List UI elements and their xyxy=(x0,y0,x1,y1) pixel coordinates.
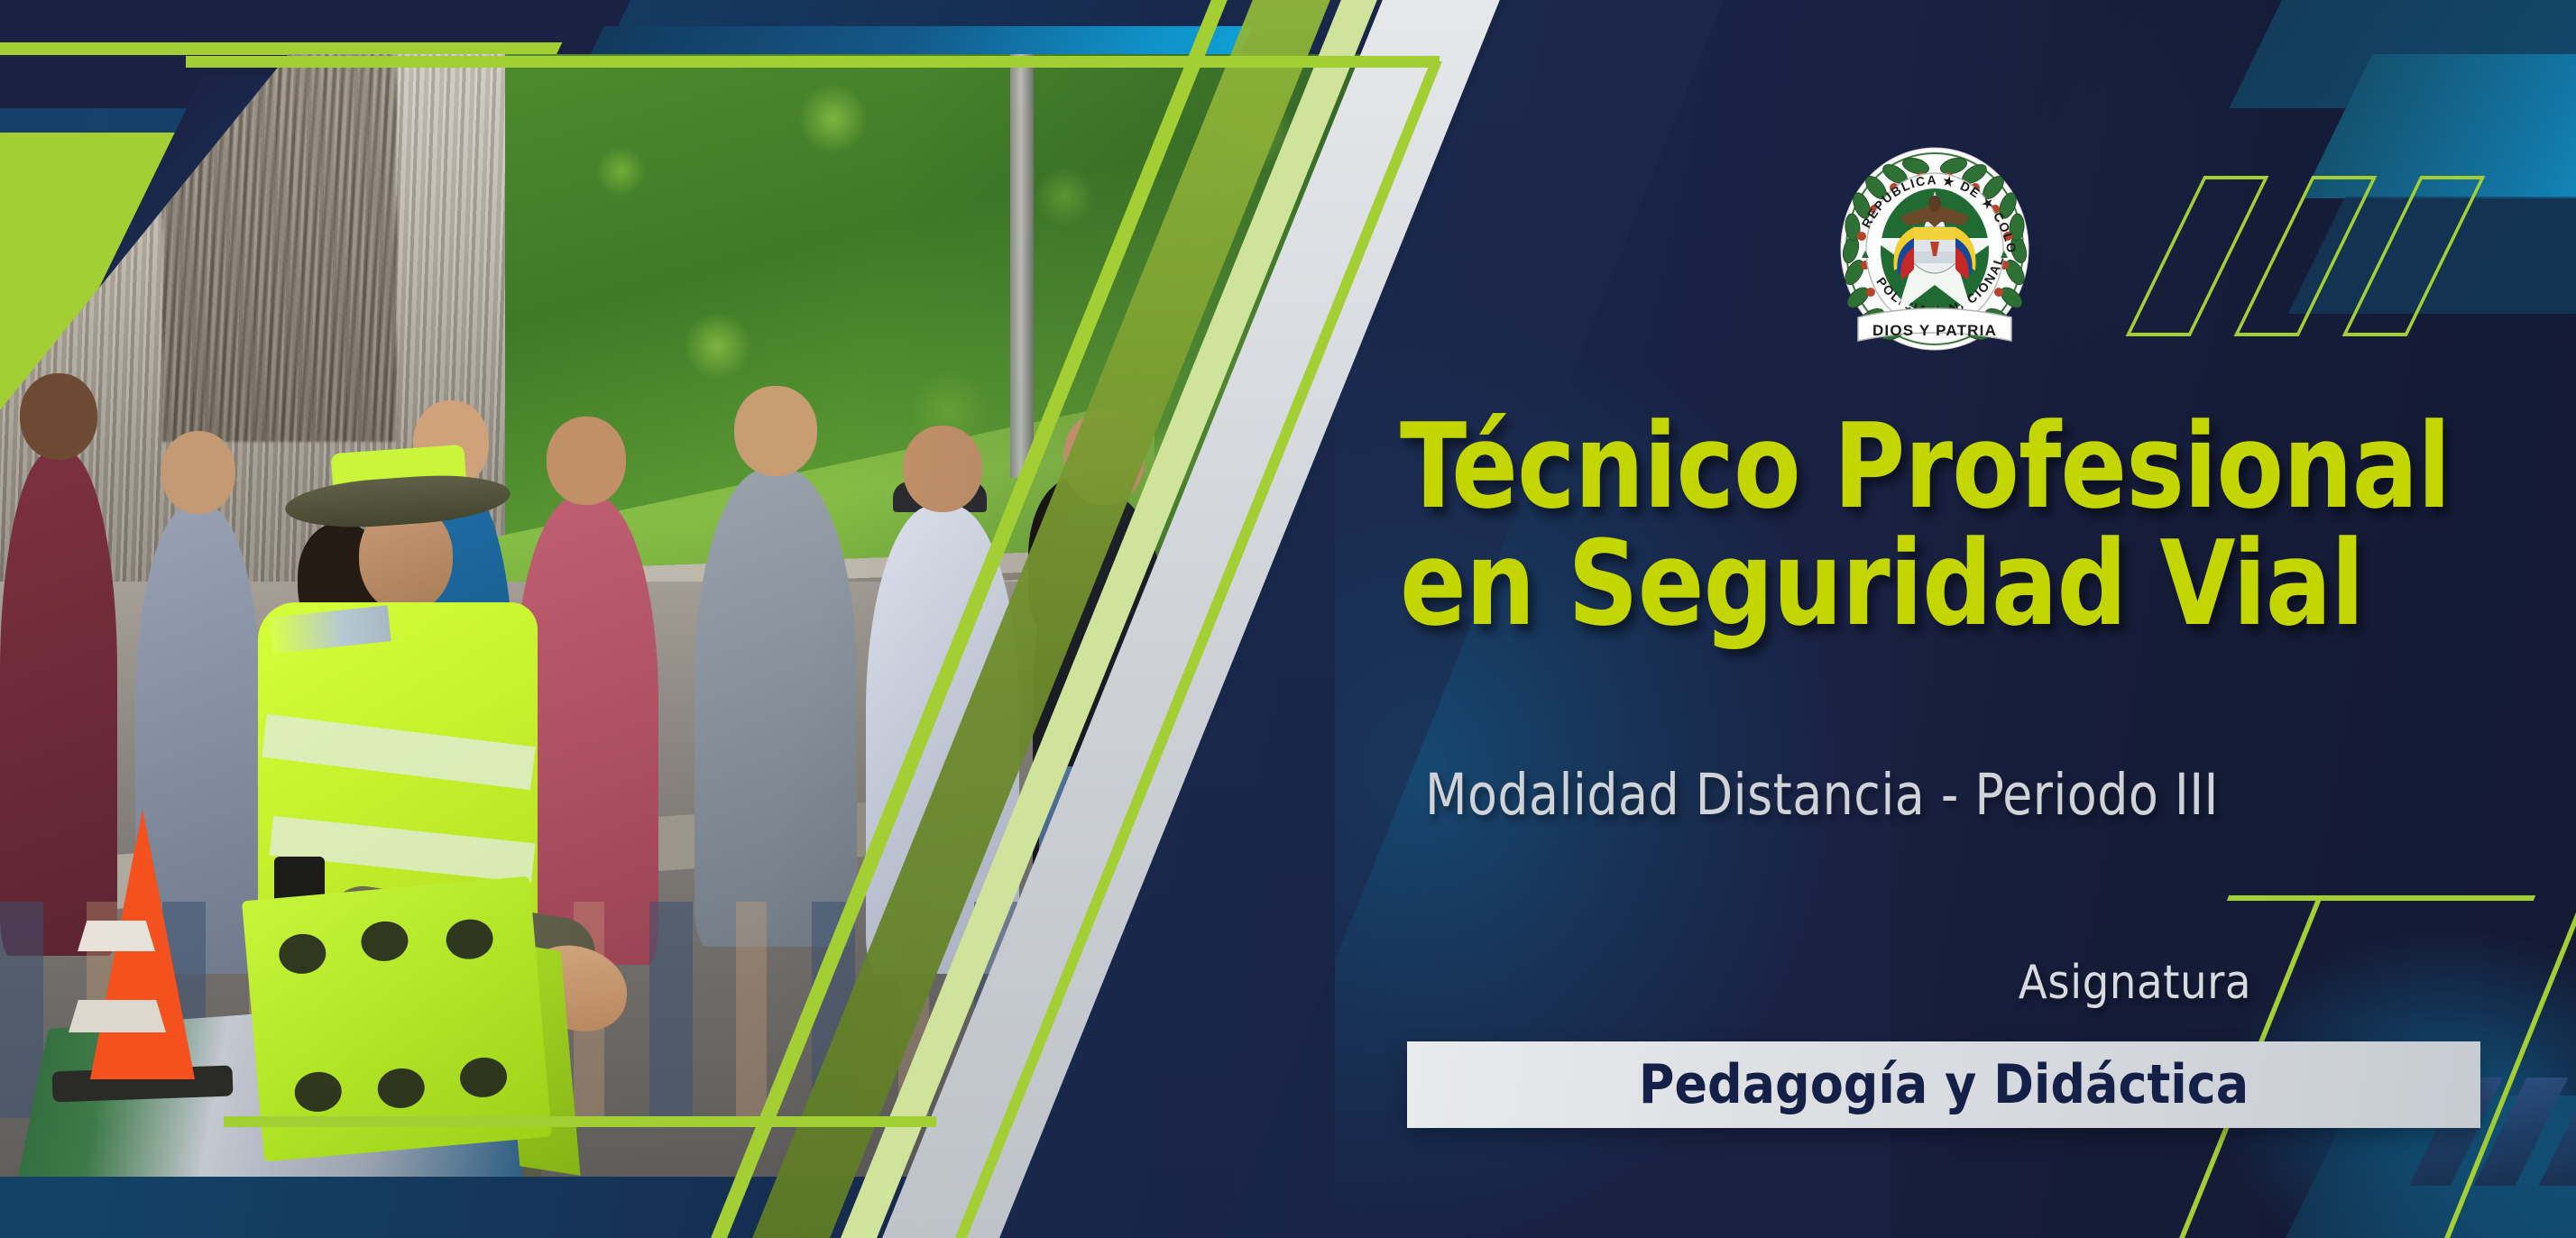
decor-green-bar-topleft xyxy=(0,42,562,55)
page-title: Técnico Profesional en Seguridad Vial xyxy=(1400,408,2482,642)
subject-name-bar: Pedagogía y Didáctica xyxy=(1407,1041,2480,1128)
decor-green-frame-top xyxy=(186,56,1440,68)
svg-text:DIOS Y PATRIA: DIOS Y PATRIA xyxy=(1872,322,1997,339)
subject-name: Pedagogía y Didáctica xyxy=(1639,1053,2249,1116)
policia-nacional-emblem-icon: REPUBLICA ★ DE ★ COLOMBIA POLICIA ★ NACI… xyxy=(1835,137,2035,362)
decor-green-outline-asignatura-top xyxy=(2227,895,2535,901)
modality-subtitle: Modalidad Distancia - Periodo III xyxy=(1425,762,2219,828)
subject-label: Asignatura xyxy=(2019,956,2251,1010)
program-banner: REPUBLICA ★ DE ★ COLOMBIA POLICIA ★ NACI… xyxy=(0,0,2576,1238)
title-line-2: en Seguridad Vial xyxy=(1400,525,2482,642)
decor-green-frame-bottom xyxy=(224,1116,936,1127)
